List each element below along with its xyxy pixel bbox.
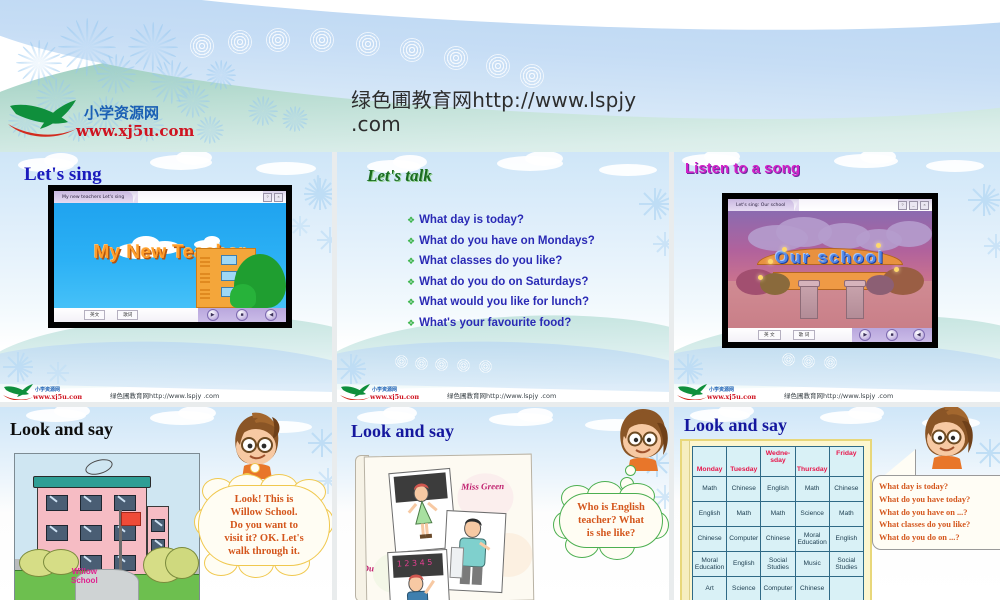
girl-character <box>609 407 669 473</box>
slide-footer: 小学资源网 www.xj5u.com 绿色圃教育网http://www.lspj… <box>337 368 669 402</box>
spiral-icon <box>356 32 380 56</box>
slide-grid: Let's sing My new teachers Let's sing ? … <box>0 152 1000 600</box>
player-tab[interactable]: Let's sing: Our school <box>728 199 794 211</box>
svg-text:1 2 3 4 5: 1 2 3 4 5 <box>397 558 433 569</box>
svg-text:www.xj5u.com: www.xj5u.com <box>706 393 756 400</box>
stop-icon[interactable]: ■ <box>886 329 898 341</box>
question-list: ❖ What day is today? ❖ What do you have … <box>407 214 595 337</box>
lyrics-button[interactable]: 歌 词 <box>793 330 816 340</box>
thought-dot-small <box>250 463 260 473</box>
slide-title: Listen to a song <box>685 160 800 177</box>
bubble-line: Do you want to <box>209 519 319 532</box>
bubble-line: What do you have on ...? <box>879 507 1000 520</box>
school-roof <box>33 476 151 488</box>
table-cell: Math <box>693 477 727 502</box>
photo-name-mr-du: Mr Du <box>364 563 374 573</box>
table-cell: English <box>693 502 727 527</box>
player-video-area[interactable]: Our school <box>728 211 932 328</box>
slide-title: Look and say <box>10 419 113 440</box>
player-transport-controls[interactable]: ▶ ■ ◀ <box>852 328 932 342</box>
table-cell: Chinese <box>761 527 795 552</box>
player-titlebar-filler <box>138 191 263 203</box>
speech-bubble: What day is today? What do you have toda… <box>872 475 1000 550</box>
help-button[interactable]: ? <box>263 193 272 202</box>
spiral-icon <box>190 34 214 58</box>
column-header-thursday: Thursday <box>795 447 829 477</box>
spiral-icon <box>266 28 290 52</box>
table-cell: Computer <box>761 577 795 600</box>
xj5u-logo: 小学资源网 www.xj5u.com <box>6 96 221 142</box>
spiral-icon <box>486 54 510 78</box>
slide-title: Look and say <box>351 421 454 442</box>
bubble-line: is she like? <box>570 527 652 540</box>
volume-icon[interactable]: ◀ <box>913 329 925 341</box>
bush-graphic <box>165 547 199 579</box>
satellite-dish-icon <box>84 456 115 477</box>
player-video-area[interactable]: My New Teacher <box>54 203 286 308</box>
player-titlebar: Let's sing: Our school ? _ × <box>728 199 932 211</box>
table-row: Math Chinese English Math Chinese <box>693 477 864 502</box>
svg-text:小学资源网: 小学资源网 <box>84 104 159 122</box>
player-tab-title: Let's sing: Our school <box>736 203 785 208</box>
table-cell: Computer <box>727 527 761 552</box>
bubble-line: What classes do you like? <box>879 519 1000 532</box>
table-cell: English <box>829 527 863 552</box>
table-header-row: Monday Tuesday Wedne-sday Thursday Frida… <box>693 447 864 477</box>
snowflake-icon <box>206 60 236 90</box>
svg-text:小学资源网: 小学资源网 <box>709 386 734 393</box>
play-icon[interactable]: ▶ <box>859 329 871 341</box>
notebook-spine <box>682 441 690 600</box>
photo-name-miss-green: Miss Green <box>461 481 504 492</box>
diamond-bullet-icon: ❖ <box>407 214 415 227</box>
table-cell: Chinese <box>727 477 761 502</box>
page-banner: 小学资源网 www.xj5u.com 绿色圃教育网http://www.lspj… <box>0 0 1000 152</box>
question-text: What's your favourite food? <box>419 317 571 330</box>
table-row: Chinese Computer Chinese Moral Education… <box>693 527 864 552</box>
english-button[interactable]: 英 文 <box>758 330 781 340</box>
table-row: English Math Math Science Math <box>693 502 864 527</box>
diamond-bullet-icon: ❖ <box>407 235 415 248</box>
table-cell: Moral Education <box>795 527 829 552</box>
english-button[interactable]: 英文 <box>84 310 105 320</box>
slide-footer: 小学资源网 www.xj5u.com 绿色圃教育网http://www.lspj… <box>674 368 1000 402</box>
question-text: What do you do on Saturdays? <box>419 276 588 289</box>
table-cell: English <box>727 552 761 577</box>
school-illustration: Willow School <box>14 453 200 600</box>
volume-icon[interactable]: ◀ <box>265 309 277 321</box>
player-language-buttons[interactable]: 英文 歌词 <box>84 310 138 320</box>
footer-logo: 小学资源网 www.xj5u.com <box>676 382 756 400</box>
question-text: What classes do you like? <box>419 255 562 268</box>
timetable-container: Monday Tuesday Wedne-sday Thursday Frida… <box>680 439 872 600</box>
bubble-line: What do you have today? <box>879 494 1000 507</box>
table-row: Art Science Computer Chinese <box>693 577 864 600</box>
column-header-monday: Monday <box>693 447 727 477</box>
pillar-right <box>846 283 864 319</box>
thought-dot-small <box>625 465 636 476</box>
bubble-line: What do you do on ...? <box>879 532 1000 545</box>
slide-thumb-lets-talk[interactable]: Let's talk ❖ What day is today? ❖ What d… <box>337 152 669 402</box>
slide-title: Look and say <box>684 415 787 436</box>
lyrics-button[interactable]: 歌词 <box>117 310 138 320</box>
question-item: ❖ What classes do you like? <box>407 255 595 268</box>
bubble-line: Who is English <box>570 501 652 514</box>
bubble-line: Willow School. <box>209 506 319 519</box>
photo-mr-du-teacher <box>442 510 506 593</box>
class-timetable: Monday Tuesday Wedne-sday Thursday Frida… <box>692 446 864 600</box>
bubble-body: Who is English teacher? What is she like… <box>559 493 663 548</box>
help-button[interactable]: ? <box>898 201 907 210</box>
svg-text:小学资源网: 小学资源网 <box>372 386 397 393</box>
player-tab-title: My new teachers Let's sing <box>62 195 124 200</box>
play-icon[interactable]: ▶ <box>207 309 219 321</box>
question-text: What day is today? <box>419 214 524 227</box>
column-header-friday: Friday <box>829 447 863 477</box>
table-cell: Chinese <box>829 477 863 502</box>
spiral-icon <box>228 30 252 54</box>
speech-bubble: Look! This is Willow School. Do you want… <box>198 485 330 566</box>
table-cell: Math <box>761 502 795 527</box>
spiral-icon <box>310 28 334 52</box>
player-transport-controls[interactable]: ▶ ■ ◀ <box>198 308 286 322</box>
question-item: ❖ What do you do on Saturdays? <box>407 276 595 289</box>
video-title-text: Our school <box>775 248 885 268</box>
slide-thumb-look-and-say-teachers[interactable]: Look and say <box>337 407 669 600</box>
table-cell: Science <box>795 502 829 527</box>
player-titlebar: My new teachers Let's sing ? × <box>54 191 286 203</box>
bubble-line: visit it? OK. Let's <box>209 532 319 545</box>
bubble-body: Look! This is Willow School. Do you want… <box>198 485 330 566</box>
table-cell: Math <box>829 502 863 527</box>
table-cell: Moral Education <box>693 552 727 577</box>
spiral-icon <box>444 46 468 70</box>
snow-corner-right <box>948 172 1000 287</box>
spiral-icon <box>400 38 424 62</box>
table-cell <box>829 577 863 600</box>
bubble-line: What day is today? <box>879 481 1000 494</box>
bubble-line: walk through it. <box>209 545 319 558</box>
snowflake-icon <box>248 96 278 126</box>
media-player-window[interactable]: My new teachers Let's sing ? × <box>48 185 292 328</box>
close-button[interactable]: × <box>274 193 283 202</box>
question-item: ❖ What day is today? <box>407 214 595 227</box>
video-scene-our-school: Our school <box>728 211 932 328</box>
diamond-bullet-icon: ❖ <box>407 276 415 289</box>
player-frame: Let's sing: Our school ? _ × <box>722 193 938 348</box>
bubble-line: teacher? What <box>570 514 652 527</box>
diamond-bullet-icon: ❖ <box>407 317 415 330</box>
footer-logo: 小学资源网 www.xj5u.com <box>339 382 419 400</box>
slide-thumb-look-and-say-school[interactable]: Look and say <box>0 407 332 600</box>
table-cell: Social Studies <box>761 552 795 577</box>
table-cell: Music <box>795 552 829 577</box>
stop-icon[interactable]: ■ <box>236 309 248 321</box>
question-item: ❖ What would you like for lunch? <box>407 296 595 309</box>
question-item: ❖ What's your favourite food? <box>407 317 595 330</box>
spiral-icon <box>520 64 544 88</box>
snow-corner-right <box>617 178 669 283</box>
player-language-buttons[interactable]: 英 文 歌 词 <box>758 330 815 340</box>
tree-graphic-small <box>230 284 256 308</box>
girl-character <box>912 407 978 471</box>
svg-text:www.xj5u.com: www.xj5u.com <box>75 122 195 140</box>
slide-contact-sheet: 小学资源网 www.xj5u.com 绿色圃教育网http://www.lspj… <box>0 0 1000 600</box>
minimize-button[interactable]: _ <box>909 201 918 210</box>
table-cell: Math <box>795 477 829 502</box>
diamond-bullet-icon: ❖ <box>407 296 415 309</box>
slide-title: Let's sing <box>24 164 102 186</box>
snowflake-icon <box>282 106 308 132</box>
player-titlebar-filler <box>799 199 898 211</box>
slide-thumb-lets-sing[interactable]: Let's sing My new teachers Let's sing ? … <box>0 152 332 402</box>
footer-watermark: 绿色圃教育网http://www.lspjy .com <box>784 392 934 400</box>
video-scene-my-new-teacher: My New Teacher <box>54 203 286 308</box>
slide-title: Let's talk <box>367 166 432 186</box>
media-player-window[interactable]: Let's sing: Our school ? _ × <box>722 193 938 348</box>
column-header-tuesday: Tuesday <box>727 447 761 477</box>
table-cell: Art <box>693 577 727 600</box>
player-window-buttons[interactable]: ? _ × <box>898 201 932 210</box>
slide-footer: 小学资源网 www.xj5u.com 绿色圃教育网http://www.lspj… <box>0 368 332 402</box>
player-tab[interactable]: My new teachers Let's sing <box>54 191 133 203</box>
slide-thumb-listen-to-a-song[interactable]: Listen to a song Let's sing: Our school … <box>674 152 1000 402</box>
diamond-bullet-icon: ❖ <box>407 255 415 268</box>
table-cell: Chinese <box>693 527 727 552</box>
school-name-label: Willow School <box>71 567 98 585</box>
column-header-wednesday: Wedne-sday <box>761 447 795 477</box>
footer-watermark: 绿色圃教育网http://www.lspjy .com <box>110 392 260 400</box>
table-cell: Social Studies <box>829 552 863 577</box>
table-cell: Math <box>727 502 761 527</box>
question-text: What would you like for lunch? <box>419 296 589 309</box>
footer-watermark: 绿色圃教育网http://www.lspjy .com <box>447 392 597 400</box>
pillar-left <box>800 283 818 319</box>
question-item: ❖ What do you have on Mondays? <box>407 235 595 248</box>
svg-text:www.xj5u.com: www.xj5u.com <box>32 393 82 400</box>
flag-icon <box>121 512 141 526</box>
player-frame: My new teachers Let's sing ? × <box>48 185 292 328</box>
player-window-buttons[interactable]: ? × <box>263 193 286 202</box>
svg-text:小学资源网: 小学资源网 <box>35 386 60 393</box>
footer-logo: 小学资源网 www.xj5u.com <box>2 382 82 400</box>
table-row: Moral Education English Social Studies M… <box>693 552 864 577</box>
speech-bubble: Who is English teacher? What is she like… <box>559 493 663 548</box>
close-button[interactable]: × <box>920 201 929 210</box>
slide-thumb-look-and-say-timetable[interactable]: Look and say Monday Tuesday Wedne-sday T… <box>674 407 1000 600</box>
question-text: What do you have on Mondays? <box>419 235 595 248</box>
teacher-photos-illustration: 1 2 3 4 5 Miss Green Mr Du <box>364 454 535 600</box>
photo-mr-du-student: 1 2 3 4 5 <box>387 549 451 600</box>
table-cell: English <box>761 477 795 502</box>
table-cell: Science <box>727 577 761 600</box>
table-cell: Chinese <box>795 577 829 600</box>
svg-text:www.xj5u.com: www.xj5u.com <box>369 393 419 400</box>
banner-watermark-text: 绿色圃教育网http://www.lspjy .com <box>351 88 651 136</box>
bubble-line: Look! This is <box>209 493 319 506</box>
